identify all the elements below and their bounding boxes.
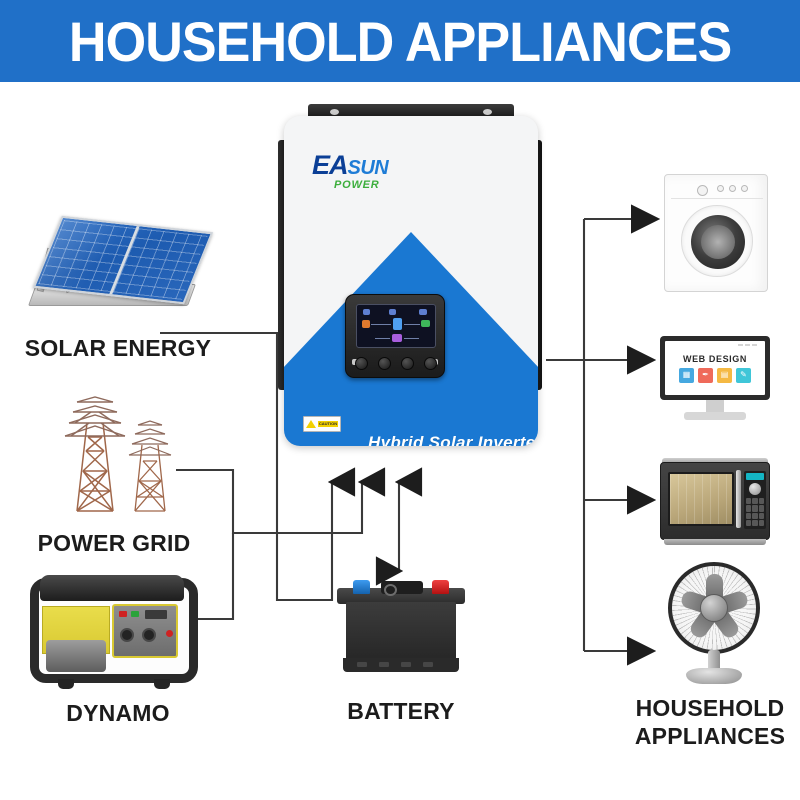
computer-monitor-illustration: WEB DESIGN ▦ ✒ ▤ ✎ bbox=[660, 336, 770, 422]
lcd-icon-load bbox=[419, 309, 427, 315]
label-dynamo: DYNAMO bbox=[28, 700, 208, 727]
generator-power-switch bbox=[119, 611, 127, 617]
battery-positive-terminal bbox=[432, 580, 449, 594]
bracket-hole bbox=[483, 109, 492, 115]
bracket-hole bbox=[330, 109, 339, 115]
fan-motor-hub bbox=[700, 594, 728, 622]
battery-base-ridge bbox=[401, 662, 411, 667]
washing-machine-porthole bbox=[691, 215, 745, 269]
lcd-flow-line bbox=[404, 324, 420, 325]
fan-stand-base bbox=[686, 668, 742, 684]
battery-base-ridge bbox=[357, 662, 367, 667]
tile-pen-icon: ✒ bbox=[702, 371, 709, 379]
generator-outlet bbox=[142, 628, 156, 642]
logo-sun-text: SUN bbox=[348, 157, 389, 179]
label-household-appliances: HOUSEHOLD APPLIANCES bbox=[620, 694, 800, 750]
washer-knob bbox=[741, 185, 748, 192]
washing-machine-drum bbox=[701, 225, 735, 259]
microwave-control-panel bbox=[744, 471, 766, 529]
battery-handle bbox=[381, 581, 423, 594]
monitor-headline: WEB DESIGN bbox=[683, 354, 747, 364]
label-household-line2: APPLIANCES bbox=[635, 723, 785, 749]
logo-ea-text: EA bbox=[312, 150, 348, 180]
inverter-button-esc[interactable] bbox=[355, 357, 368, 370]
solar-panel-illustration bbox=[20, 218, 210, 323]
microwave-base-trim bbox=[664, 539, 766, 545]
wire-grid-to-inverter bbox=[176, 470, 362, 533]
monitor-bezel: WEB DESIGN ▦ ✒ ▤ ✎ bbox=[660, 336, 770, 400]
electric-fan-illustration bbox=[660, 562, 770, 682]
generator-foot bbox=[58, 679, 74, 689]
warning-triangle-icon bbox=[306, 420, 316, 428]
microwave-dial bbox=[749, 483, 761, 495]
lcd-indicator-inverter bbox=[393, 318, 402, 330]
header-banner: HOUSEHOLD APPLIANCES bbox=[0, 0, 800, 82]
monitor-screen: WEB DESIGN ▦ ✒ ▤ ✎ bbox=[665, 341, 765, 395]
microwave-door-handle bbox=[736, 470, 741, 528]
washing-machine-body bbox=[664, 174, 768, 292]
monitor-stand-base bbox=[684, 412, 746, 420]
washing-machine-illustration bbox=[664, 174, 768, 292]
lcd-flow-line bbox=[371, 324, 391, 325]
generator-control-panel bbox=[112, 604, 178, 658]
lcd-indicator-output bbox=[421, 320, 430, 327]
label-battery: BATTERY bbox=[333, 698, 469, 725]
tile-edit-icon: ✎ bbox=[740, 371, 747, 379]
logo-power-text: POWER bbox=[334, 180, 388, 191]
hybrid-solar-inverter: EASUN POWER bbox=[278, 104, 544, 450]
monitor-tile-row: ▦ ✒ ▤ ✎ bbox=[679, 368, 751, 383]
tile-layout-icon: ▤ bbox=[721, 371, 729, 379]
caution-text: CAUTION bbox=[318, 421, 338, 427]
page-title: HOUSEHOLD APPLIANCES bbox=[69, 9, 731, 74]
monitor-tile-3: ▤ bbox=[717, 368, 732, 383]
label-household-line1: HOUSEHOLD bbox=[636, 695, 785, 721]
lcd-icon-grid bbox=[389, 309, 396, 315]
washer-knob bbox=[729, 185, 736, 192]
inverter-display-module[interactable] bbox=[345, 294, 445, 378]
lcd-indicator-battery bbox=[392, 334, 402, 342]
microwave-display bbox=[746, 473, 764, 480]
easun-power-logo: EASUN POWER bbox=[312, 152, 388, 191]
generator-run-switch bbox=[131, 611, 139, 617]
label-power-grid: POWER GRID bbox=[14, 530, 214, 557]
label-solar-energy: SOLAR ENERGY bbox=[18, 335, 218, 362]
battery-case bbox=[346, 602, 456, 662]
power-grid-illustration bbox=[25, 393, 200, 518]
washer-knob bbox=[717, 185, 724, 192]
microwave-keypad bbox=[746, 498, 764, 526]
generator-foot bbox=[154, 679, 170, 689]
washing-machine-control-panel bbox=[671, 181, 763, 199]
washer-program-dial bbox=[697, 185, 708, 196]
caution-label: CAUTION bbox=[303, 416, 341, 432]
battery-illustration bbox=[333, 574, 469, 676]
monitor-browser-dots bbox=[738, 344, 757, 346]
dynamo-generator-illustration bbox=[30, 578, 198, 683]
lcd-indicator-solar bbox=[362, 320, 370, 328]
battery-base-ridge bbox=[423, 662, 433, 667]
tile-grid-icon: ▦ bbox=[683, 371, 691, 379]
microwave-body bbox=[660, 462, 770, 540]
fan-guard-cage bbox=[668, 562, 760, 654]
monitor-stand-neck bbox=[706, 400, 724, 412]
lcd-icon-pv bbox=[363, 309, 370, 315]
pylon-svg bbox=[25, 393, 200, 518]
inverter-button-row[interactable] bbox=[352, 353, 440, 373]
washing-machine-door bbox=[681, 205, 753, 277]
battery-negative-terminal bbox=[353, 580, 370, 594]
diagram-page: HOUSEHOLD APPLIANCES bbox=[0, 0, 800, 800]
generator-outlet bbox=[120, 628, 134, 642]
inverter-button-up[interactable] bbox=[378, 357, 391, 370]
monitor-tile-1: ▦ bbox=[679, 368, 694, 383]
generator-breaker bbox=[166, 630, 173, 637]
battery-base-ridge bbox=[379, 662, 389, 667]
generator-fuel-tank bbox=[40, 575, 184, 601]
battery-base bbox=[343, 658, 459, 672]
generator-meter bbox=[145, 610, 167, 619]
monitor-tile-2: ✒ bbox=[698, 368, 713, 383]
lcd-flow-line bbox=[375, 338, 390, 339]
inverter-button-enter[interactable] bbox=[424, 357, 437, 370]
inverter-model-text: Hybrid Solar Inverter bbox=[368, 433, 538, 446]
lcd-screen bbox=[356, 304, 436, 348]
generator-engine-block bbox=[46, 640, 106, 672]
inverter-chassis: EASUN POWER bbox=[284, 116, 538, 446]
inverter-button-down[interactable] bbox=[401, 357, 414, 370]
lcd-flow-line bbox=[404, 338, 419, 339]
microwave-window-mesh bbox=[670, 474, 732, 524]
monitor-tile-4: ✎ bbox=[736, 368, 751, 383]
microwave-door-window bbox=[668, 472, 734, 526]
microwave-illustration bbox=[660, 462, 770, 540]
